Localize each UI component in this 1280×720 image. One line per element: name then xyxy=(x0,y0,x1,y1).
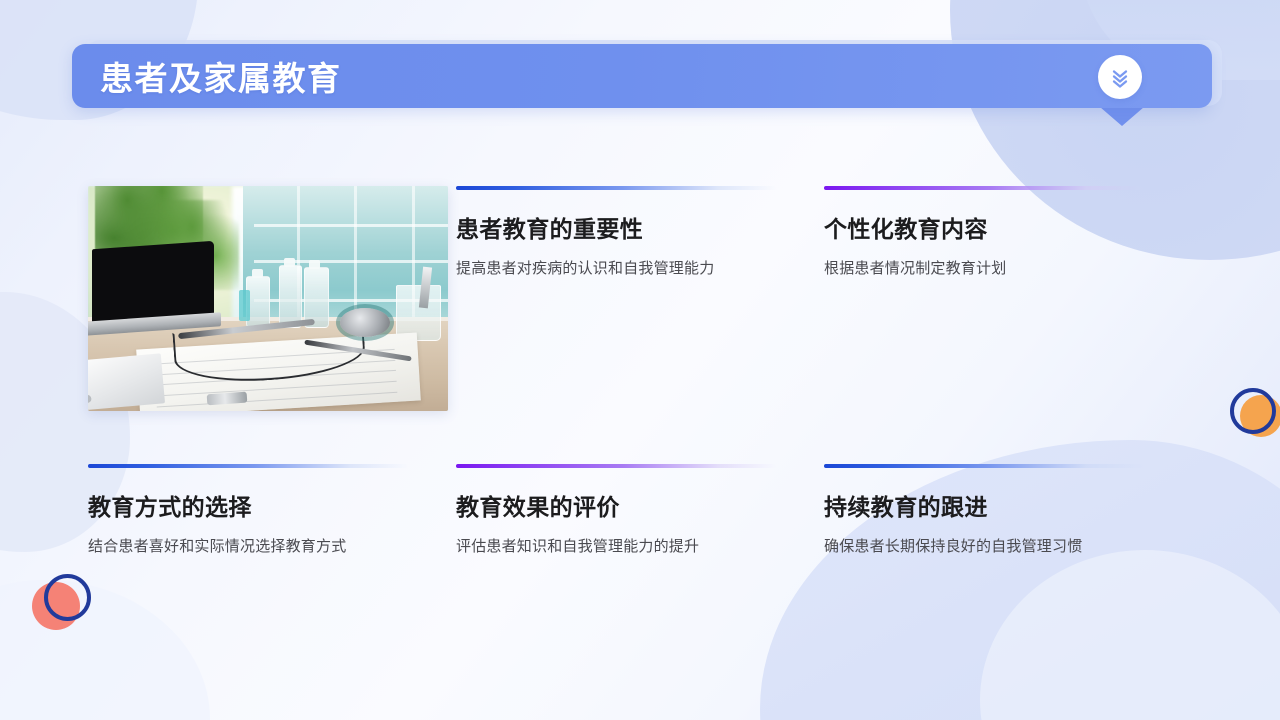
card-description: 确保患者长期保持良好的自我管理习惯 xyxy=(824,535,1144,558)
photo-cell xyxy=(88,186,456,464)
photo-bottle xyxy=(279,265,303,328)
slide: 患者及家属教育 xyxy=(0,0,1280,720)
card-title: 患者教育的重要性 xyxy=(456,216,776,244)
card-personalized: 个性化教育内容 根据患者情况制定教育计划 xyxy=(824,186,1192,464)
content-grid: 患者教育的重要性 提高患者对疾病的认识和自我管理能力 个性化教育内容 根据患者情… xyxy=(88,186,1192,558)
card-description: 评估患者知识和自我管理能力的提升 xyxy=(456,535,776,558)
card-description: 结合患者喜好和实际情况选择教育方式 xyxy=(88,535,408,558)
decoration-circle-ring xyxy=(1230,388,1276,434)
decoration-circle-right xyxy=(1230,388,1280,446)
decoration-circle-bottom-left xyxy=(32,574,94,636)
background-blob-bottom-right-inner xyxy=(980,550,1280,720)
card-title: 个性化教育内容 xyxy=(824,216,1144,244)
header-banner-tail xyxy=(1100,107,1144,126)
card-followup: 持续教育的跟进 确保患者长期保持良好的自我管理习惯 xyxy=(824,464,1192,558)
photo-bottle-cap xyxy=(252,269,263,278)
card-accent-bar xyxy=(456,464,776,468)
photo-shelf xyxy=(254,260,448,263)
card-title: 教育方式的选择 xyxy=(88,494,408,522)
medical-desk-photo xyxy=(88,186,448,411)
header-banner: 患者及家属教育 xyxy=(72,44,1212,108)
photo-bottle xyxy=(304,267,329,328)
page-title: 患者及家属教育 xyxy=(100,52,342,100)
card-importance: 患者教育的重要性 提高患者对疾病的认识和自我管理能力 xyxy=(456,186,824,464)
photo-shelf xyxy=(254,224,448,227)
card-title: 教育效果的评价 xyxy=(456,494,776,522)
card-accent-bar xyxy=(88,464,408,468)
decoration-circle-ring xyxy=(44,574,91,621)
card-accent-bar xyxy=(456,186,776,190)
photo-device-box xyxy=(88,353,166,410)
photo-laptop-screen xyxy=(92,240,214,325)
photo-bottle-cap xyxy=(284,258,295,267)
photo-stethoscope-head xyxy=(340,308,390,337)
card-title: 持续教育的跟进 xyxy=(824,494,1144,522)
photo-bottle-cap xyxy=(309,260,320,269)
photo-teal-bottle xyxy=(239,290,250,322)
card-description: 提高患者对疾病的认识和自我管理能力 xyxy=(456,257,776,280)
card-description: 根据患者情况制定教育计划 xyxy=(824,257,1144,280)
card-accent-bar xyxy=(824,186,1144,190)
card-accent-bar xyxy=(824,464,1144,468)
card-methods: 教育方式的选择 结合患者喜好和实际情况选择教育方式 xyxy=(88,464,456,558)
double-chevron-down-icon[interactable] xyxy=(1098,55,1142,99)
card-evaluation: 教育效果的评价 评估患者知识和自我管理能力的提升 xyxy=(456,464,824,558)
